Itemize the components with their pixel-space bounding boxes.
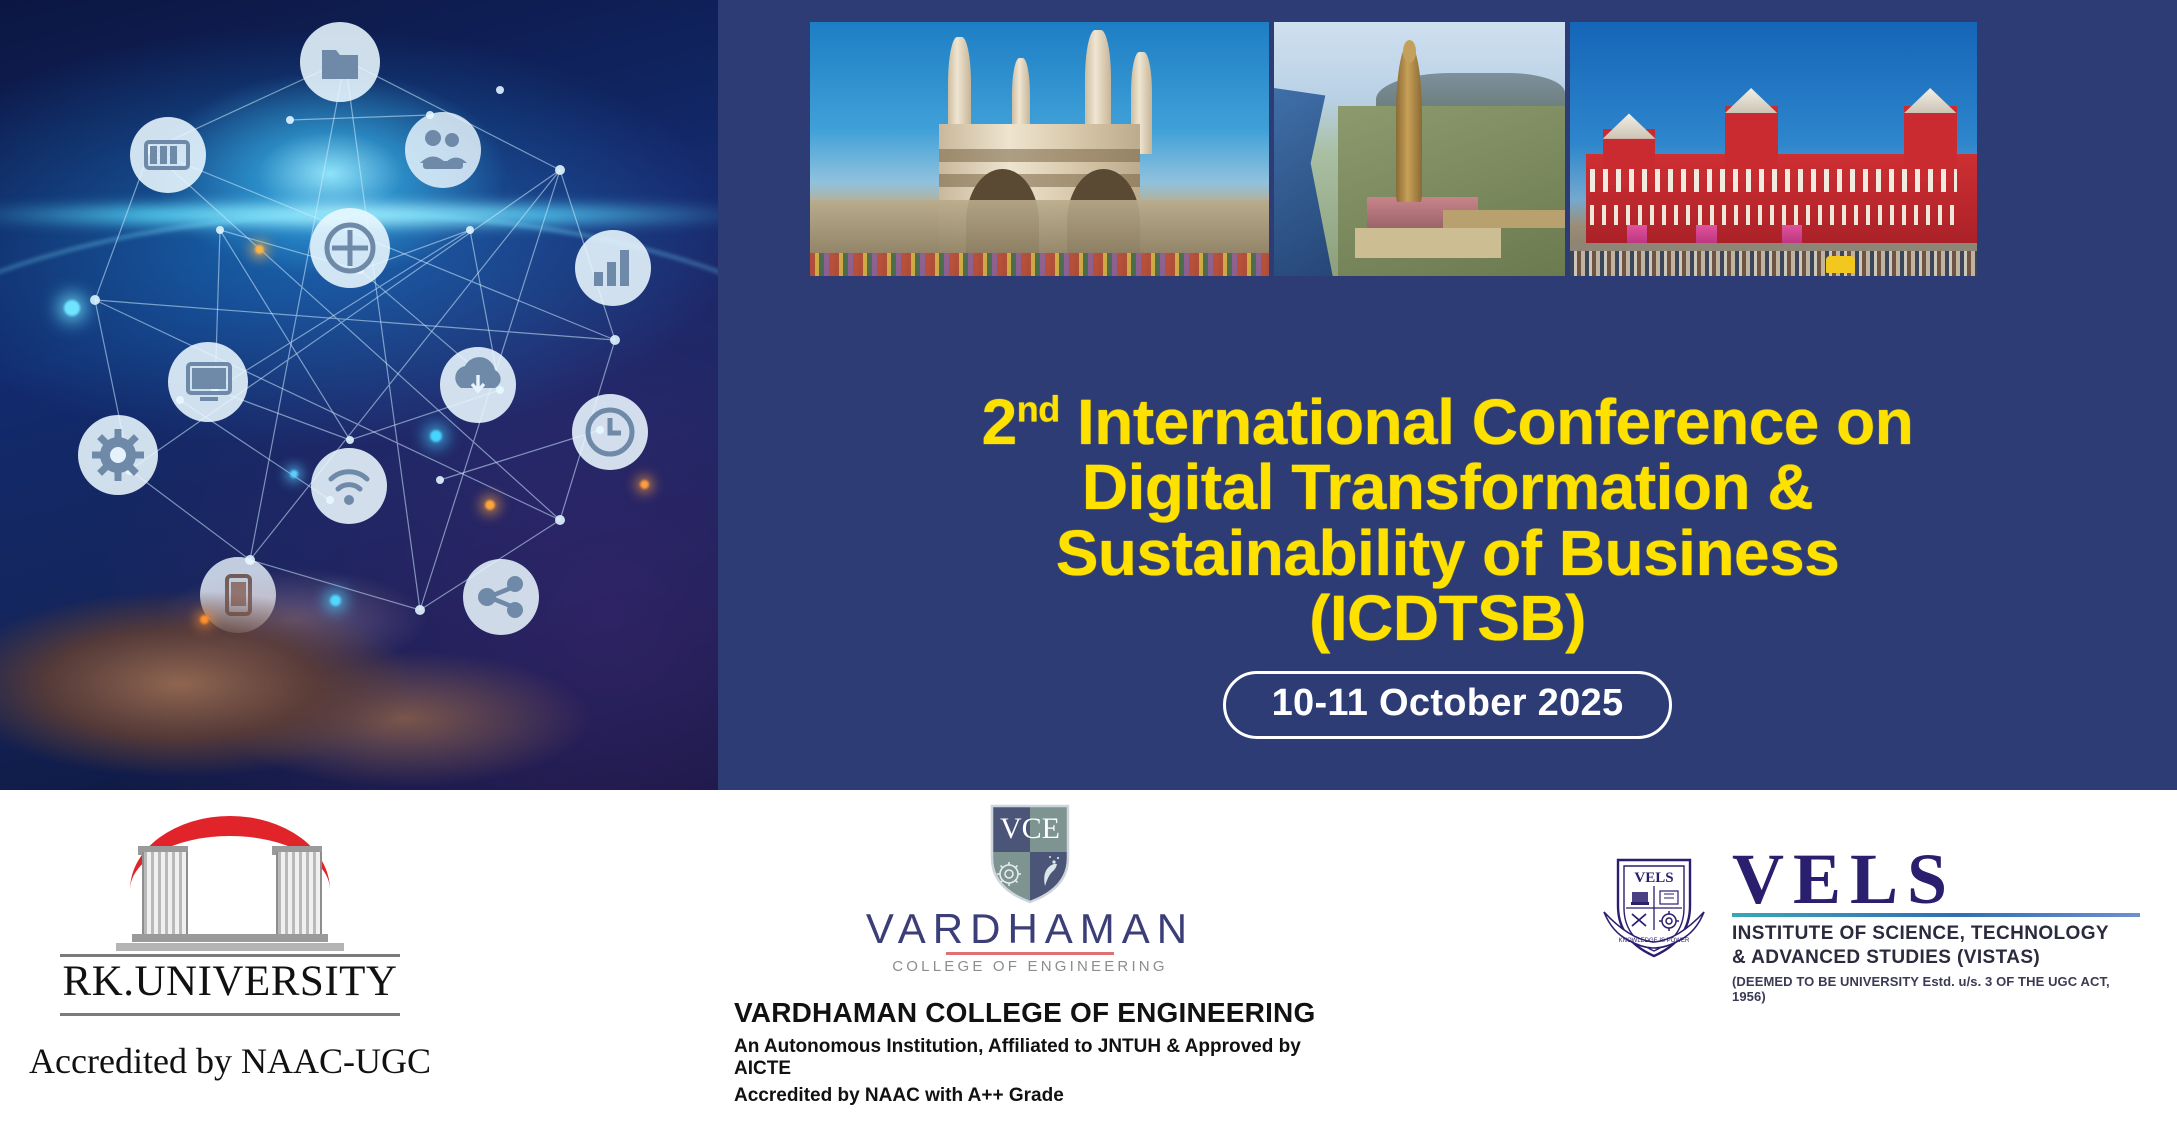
light-spark <box>200 615 209 624</box>
vardhaman-wordmark: VARDHAMAN <box>720 908 1340 950</box>
bar-chart-icon <box>575 230 651 306</box>
light-spark <box>290 470 298 478</box>
logo-vels-institute: VELS KNOWLEDGE IS POWER VELS <box>1600 846 2140 1004</box>
conference-title-block: 2nd International Conference on Digital … <box>718 390 2177 739</box>
users-icon <box>405 112 481 188</box>
light-spark <box>64 300 80 316</box>
monitor-icon <box>168 342 248 422</box>
rk-accreditation-text: Accredited by NAAC-UGC <box>20 1040 440 1082</box>
vels-crest-icon: VELS KNOWLEDGE IS POWER <box>1600 846 1708 966</box>
photo-statue-of-unity <box>1274 22 1565 276</box>
clock-icon <box>572 394 648 470</box>
title-ordinal: 2 <box>982 386 1017 458</box>
vardhaman-wordmark-sub: COLLEGE OF ENGINEERING <box>720 958 1340 975</box>
title-acronym: (ICDTSB) <box>718 586 2177 651</box>
plus-circle-icon <box>310 208 390 288</box>
conference-date-badge: 10-11 October 2025 <box>1223 671 1673 739</box>
svg-text:KNOWLEDGE IS POWER: KNOWLEDGE IS POWER <box>1619 938 1690 944</box>
gear-icon <box>78 415 158 495</box>
light-spark <box>255 245 264 254</box>
vels-deemed-university-line: (DEEMED TO BE UNIVERSITY Estd. u/s. 3 OF… <box>1732 974 2140 1004</box>
vardhaman-accreditation-line: Accredited by NAAC with A++ Grade <box>734 1085 1340 1107</box>
title-ordinal-suffix: nd <box>1017 389 1060 430</box>
rk-plinth <box>132 934 328 942</box>
logo-vardhaman-college: VCE <box>720 800 1340 1107</box>
light-spark <box>330 595 341 606</box>
vels-institute-line-2: & ADVANCED STUDIES (VISTAS) <box>1732 946 2140 970</box>
rk-plinth <box>116 943 344 951</box>
title-line-1-rest: International Conference on <box>1060 386 1914 458</box>
banner-stage: 2nd International Conference on Digital … <box>0 0 2177 790</box>
vels-institute-line-1: INSTITUTE OF SCIENCE, TECHNOLOGY <box>1732 922 2140 946</box>
cloud-download-icon <box>440 347 516 423</box>
vardhaman-name-line: VARDHAMAN COLLEGE OF ENGINEERING <box>734 997 1340 1029</box>
sponsor-logo-footer: RK.UNIVERSITY Accredited by NAAC-UGC <box>0 790 2177 1122</box>
conference-banner: 2nd International Conference on Digital … <box>0 0 2177 1122</box>
svg-text:VCE: VCE <box>1000 812 1060 845</box>
hero-network-artwork <box>0 0 718 790</box>
photo-charminar-hyderabad <box>810 22 1269 276</box>
vce-shield-icon: VCE <box>988 800 1072 904</box>
svg-text:VELS: VELS <box>1634 870 1673 886</box>
folder-icon <box>300 22 380 102</box>
light-spark <box>640 480 649 489</box>
light-spark <box>485 500 495 510</box>
vels-wordmark: VELS <box>1732 846 2140 912</box>
logo-rk-university: RK.UNIVERSITY Accredited by NAAC-UGC <box>20 812 440 1082</box>
rk-rule-bottom <box>60 1013 400 1016</box>
title-line-1: 2nd International Conference on <box>718 390 2177 455</box>
vardhaman-affiliation-line: An Autonomous Institution, Affiliated to… <box>734 1036 1340 1080</box>
landmark-photo-strip <box>810 22 1977 276</box>
vardhaman-underline <box>946 952 1114 955</box>
light-spark <box>430 430 442 442</box>
battery-icon <box>130 117 206 193</box>
title-line-3: Sustainability of Business <box>718 521 2177 586</box>
rk-column-icon <box>276 852 322 938</box>
rk-university-name: RK.UNIVERSITY <box>20 957 440 1007</box>
hands-photo <box>0 510 670 790</box>
rk-university-mark <box>20 812 440 948</box>
title-line-2: Digital Transformation & <box>718 455 2177 520</box>
rk-column-icon <box>142 852 188 938</box>
photo-chennai-central-station <box>1570 22 1977 276</box>
